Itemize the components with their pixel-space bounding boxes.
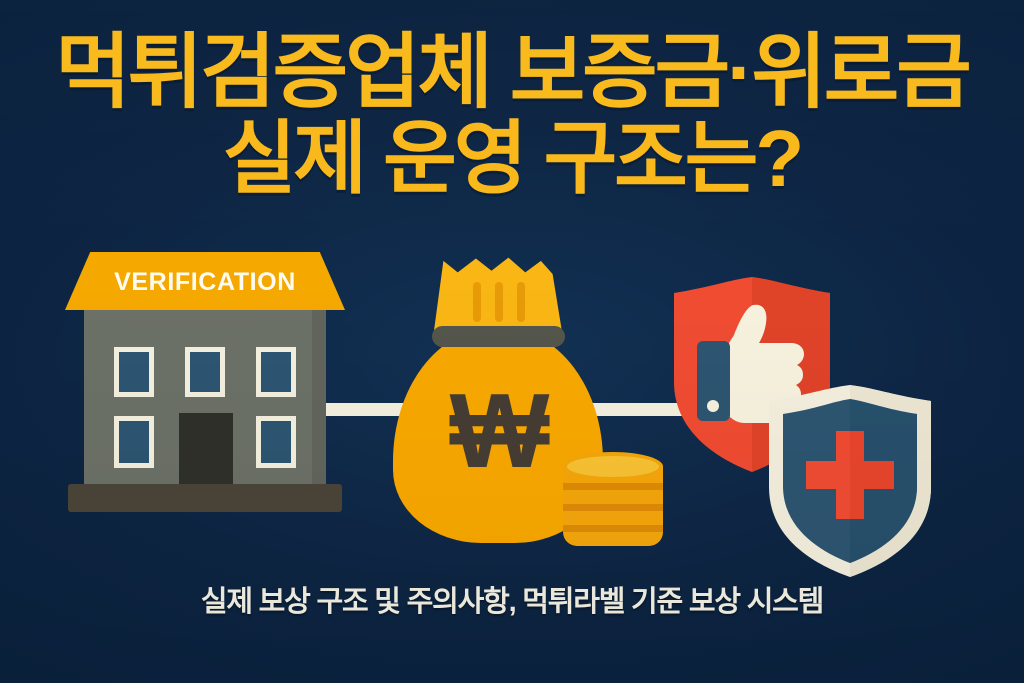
bag-fold xyxy=(517,282,525,322)
bag-fold xyxy=(495,282,503,322)
subtitle-caption: 실제 보상 구조 및 주의사항, 먹튀라벨 기준 보상 시스템 xyxy=(0,578,1024,620)
cross-icon xyxy=(766,385,934,577)
building-window xyxy=(256,416,296,468)
coin-top-face xyxy=(563,452,663,481)
coin-edge xyxy=(563,504,663,511)
coin-edge xyxy=(563,483,663,490)
coin-stack-illustration xyxy=(563,452,663,552)
bag-fold xyxy=(473,282,481,322)
roof-label: VERIFICATION xyxy=(114,268,296,297)
verification-building-illustration: VERIFICATION xyxy=(55,252,355,517)
bag-tie xyxy=(432,326,565,347)
page-title: 먹튀검증업체 보증금·위로금 실제 운영 구조는? xyxy=(0,34,1024,198)
building-base xyxy=(68,484,342,512)
poster-canvas: 먹튀검증업체 보증금·위로금 실제 운영 구조는? VERIFICATION ₩ xyxy=(0,0,1024,683)
building-window xyxy=(114,347,154,397)
title-line-2: 실제 운영 구조는? xyxy=(0,121,1024,198)
medical-cross-shield-illustration xyxy=(766,385,934,577)
building-roof: VERIFICATION xyxy=(65,252,345,310)
coin-edge xyxy=(563,525,663,532)
building-window xyxy=(185,347,225,397)
building-window xyxy=(114,416,154,468)
building-window xyxy=(256,347,296,397)
building-door xyxy=(179,413,233,487)
title-line-1: 먹튀검증업체 보증금·위로금 xyxy=(0,34,1024,113)
